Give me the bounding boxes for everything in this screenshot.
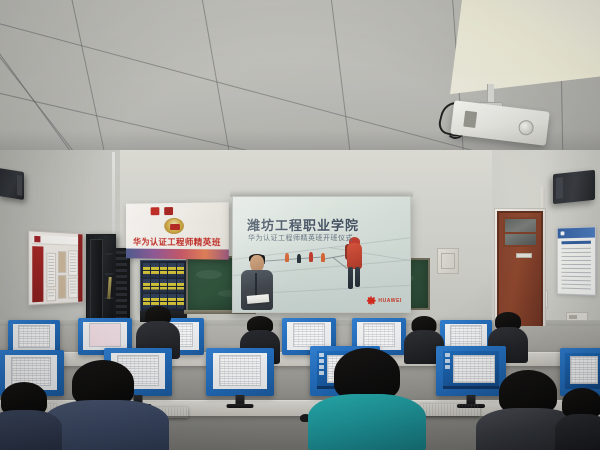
rack-slots (116, 251, 127, 319)
server-rack (86, 234, 116, 322)
student-shirt (308, 394, 426, 450)
server-rack-secondary (113, 248, 130, 322)
banner-seals (151, 207, 173, 215)
rack-door (90, 239, 103, 319)
wall-notice-poster (557, 226, 596, 295)
presenter-jacket (241, 270, 273, 310)
event-banner: 华为认证工程师精英班 (126, 202, 229, 260)
projector-lens-icon (518, 119, 535, 136)
banner-color-strip (126, 249, 229, 260)
ceiling (0, 0, 600, 172)
door-sign (516, 253, 532, 258)
slide-climber-figure (345, 235, 364, 289)
keyboard-3[interactable] (420, 404, 480, 416)
presenter (238, 255, 276, 317)
wall-speaker-right (553, 170, 595, 204)
huawei-wordmark: HUAWEI (378, 298, 402, 304)
wall-control-panel (437, 248, 459, 274)
student-shirt (0, 410, 62, 450)
wall-outlet (566, 312, 588, 321)
student-front-left (48, 360, 174, 450)
board-right-edge (78, 234, 82, 304)
student-hair (334, 348, 400, 400)
banner-seal-icon (151, 207, 160, 215)
student-front-far-right (556, 388, 600, 450)
wall-display-board (28, 230, 83, 305)
huawei-logo: HUAWEI (366, 296, 402, 305)
banner-seal-icon (164, 207, 173, 215)
school-emblem-icon (164, 218, 184, 234)
network-switch-rack (140, 260, 187, 312)
projector-vent (463, 111, 477, 128)
rack-cable (107, 277, 112, 299)
wall-speaker-left (0, 168, 24, 200)
monitor-front-3[interactable] (206, 348, 274, 396)
student-shirt (555, 414, 600, 450)
slide-subtitle: 华为认证工程师精英班开班仪式 (248, 233, 353, 243)
board-red-bar (32, 246, 43, 302)
poster-title-bar (562, 241, 591, 245)
poster-header (558, 227, 595, 238)
student-front-center (308, 348, 426, 450)
classroom-photo: 华为认证工程师精英班 潍坊工程职 (0, 0, 600, 450)
student-front-far-left (0, 382, 60, 450)
slide-title: 潍坊工程职业学院 (247, 215, 359, 234)
board-header (32, 235, 81, 246)
huawei-flower-icon (366, 296, 375, 305)
poster-body-text (562, 248, 591, 291)
door-window (503, 217, 538, 247)
banner-text: 华为认证工程师精英班 (132, 236, 223, 249)
